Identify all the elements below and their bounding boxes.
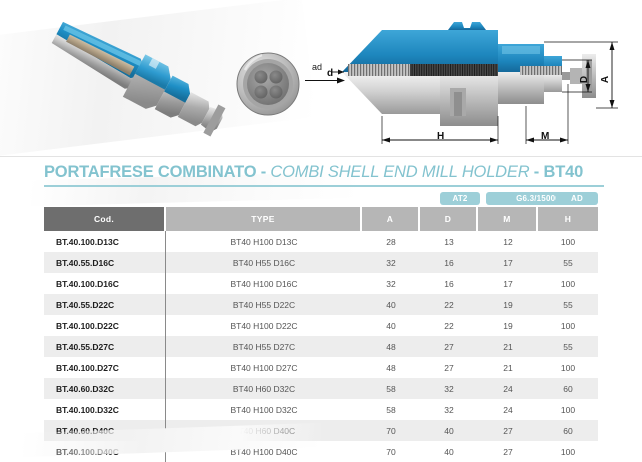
- cell-type: BT40 H55 D27C: [166, 336, 362, 357]
- cell-a: 32: [362, 273, 420, 294]
- cell-type: BT40 H100 D22C: [166, 315, 362, 336]
- cell-cod: BT.40.60.D32C: [44, 378, 166, 399]
- cell-h: 100: [538, 441, 598, 462]
- cell-type: BT40 H60 D32C: [166, 378, 362, 399]
- cell-m: 21: [478, 357, 538, 378]
- table-header-row: Cod. TYPE A D M H: [44, 207, 598, 231]
- cell-d: 22: [420, 315, 478, 336]
- page-title-separator-1: -: [256, 163, 270, 181]
- cell-cod: BT.40.100.D13C: [44, 231, 166, 252]
- table-row[interactable]: BT.40.55.D22CBT40 H55 D22C40221955: [44, 294, 598, 315]
- spec-badges: AT2 G6.3/15000 AD: [0, 192, 642, 205]
- cell-m: 27: [478, 420, 538, 441]
- dimension-label-d: d: [327, 68, 333, 79]
- dimension-label-A: A: [600, 76, 611, 83]
- tool-holder-cross-section-drawing: [330, 16, 630, 151]
- page-title-taper-code: BT40: [544, 163, 584, 181]
- table-row[interactable]: BT.40.100.D22CBT40 H100 D22C402219100: [44, 315, 598, 336]
- cell-h: 55: [538, 294, 598, 315]
- cell-d: 16: [420, 273, 478, 294]
- cell-d: 40: [420, 420, 478, 441]
- cell-m: 27: [478, 441, 538, 462]
- page-title-italian: PORTAFRESE COMBINATO: [44, 163, 256, 181]
- cell-cod: BT.40.100.D27C: [44, 357, 166, 378]
- cell-m: 12: [478, 231, 538, 252]
- cell-a: 58: [362, 378, 420, 399]
- figures-panel: ad: [0, 0, 642, 155]
- cell-m: 24: [478, 399, 538, 420]
- table-row[interactable]: BT.40.100.D27CBT40 H100 D27C482721100: [44, 357, 598, 378]
- column-header-m[interactable]: M: [478, 207, 538, 231]
- cell-type: BT40 H100 D16C: [166, 273, 362, 294]
- cell-m: 24: [478, 378, 538, 399]
- cell-cod: BT.40.55.D16C: [44, 252, 166, 273]
- cell-m: 17: [478, 273, 538, 294]
- cell-d: 32: [420, 399, 478, 420]
- title-underline: [44, 185, 604, 187]
- cell-m: 19: [478, 315, 538, 336]
- cell-a: 40: [362, 315, 420, 336]
- cell-cod: BT.40.55.D27C: [44, 336, 166, 357]
- cell-h: 100: [538, 231, 598, 252]
- cell-a: 48: [362, 336, 420, 357]
- badge-at2: AT2: [440, 192, 480, 205]
- page-title-english: COMBI SHELL END MILL HOLDER: [270, 163, 529, 181]
- cell-h: 100: [538, 315, 598, 336]
- cell-type: BT40 H55 D22C: [166, 294, 362, 315]
- cell-m: 19: [478, 294, 538, 315]
- table-row[interactable]: BT.40.55.D16CBT40 H55 D16C32161755: [44, 252, 598, 273]
- cell-a: 70: [362, 441, 420, 462]
- cell-type: BT40 H100 D27C: [166, 357, 362, 378]
- dimension-label-h: H: [437, 131, 444, 142]
- tool-holder-face-view-image: [232, 48, 304, 120]
- cell-h: 55: [538, 336, 598, 357]
- cell-a: 48: [362, 357, 420, 378]
- cell-d: 27: [420, 336, 478, 357]
- cell-a: 40: [362, 294, 420, 315]
- page-title-row: PORTAFRESE COMBINATO - COMBI SHELL END M…: [0, 163, 642, 187]
- table-row[interactable]: BT.40.100.D32CBT40 H100 D32C583224100: [44, 399, 598, 420]
- cell-h: 100: [538, 357, 598, 378]
- cell-m: 17: [478, 252, 538, 273]
- table-row[interactable]: BT.40.100.D13CBT40 H100 D13C281312100: [44, 231, 598, 252]
- cell-type: BT40 H55 D16C: [166, 252, 362, 273]
- cell-type: BT40 H100 D32C: [166, 399, 362, 420]
- cell-cod: BT.40.100.D16C: [44, 273, 166, 294]
- cell-d: 22: [420, 294, 478, 315]
- column-header-d[interactable]: D: [420, 207, 478, 231]
- cell-h: 100: [538, 273, 598, 294]
- cell-d: 16: [420, 252, 478, 273]
- cell-h: 60: [538, 420, 598, 441]
- cell-a: 70: [362, 420, 420, 441]
- tool-holder-3d-cutaway-image: [34, 18, 234, 143]
- dimension-label-ad: ad: [312, 62, 322, 72]
- dimension-label-D: D: [579, 76, 590, 83]
- cell-h: 60: [538, 378, 598, 399]
- column-header-a[interactable]: A: [362, 207, 420, 231]
- cell-d: 13: [420, 231, 478, 252]
- column-header-cod[interactable]: Cod.: [44, 207, 166, 231]
- cell-d: 32: [420, 378, 478, 399]
- table-header: Cod. TYPE A D M H: [44, 207, 598, 231]
- cell-a: 32: [362, 252, 420, 273]
- cell-h: 100: [538, 399, 598, 420]
- cell-cod: BT.40.100.D32C: [44, 399, 166, 420]
- table-row[interactable]: BT.40.100.D16CBT40 H100 D16C321617100: [44, 273, 598, 294]
- title-divider-rule: [0, 156, 642, 157]
- table-row[interactable]: BT.40.55.D27CBT40 H55 D27C48272155: [44, 336, 598, 357]
- cell-cod: BT.40.55.D22C: [44, 294, 166, 315]
- column-header-h[interactable]: H: [538, 207, 598, 231]
- table-row[interactable]: BT.40.60.D32CBT40 H60 D32C58322460: [44, 378, 598, 399]
- dimension-label-m: M: [541, 131, 549, 142]
- cell-a: 58: [362, 399, 420, 420]
- cell-m: 21: [478, 336, 538, 357]
- cell-d: 27: [420, 357, 478, 378]
- badge-ad: AD: [556, 192, 598, 205]
- page-title: PORTAFRESE COMBINATO - COMBI SHELL END M…: [44, 163, 583, 182]
- page-title-separator-2: -: [529, 163, 543, 181]
- cell-cod: BT.40.100.D22C: [44, 315, 166, 336]
- cell-d: 40: [420, 441, 478, 462]
- cell-h: 55: [538, 252, 598, 273]
- cell-type: BT40 H100 D13C: [166, 231, 362, 252]
- cell-a: 28: [362, 231, 420, 252]
- column-header-type[interactable]: TYPE: [166, 207, 362, 231]
